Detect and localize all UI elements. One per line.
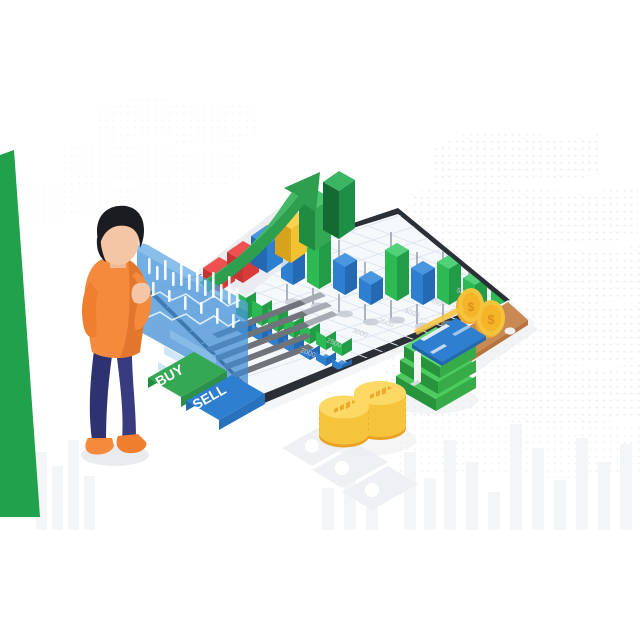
bar-6: [323, 171, 355, 239]
illustration-canvas: 2000 2500 3000 3500 4000 4500 5000: [0, 0, 640, 640]
isometric-trading-illustration: 2000 2500 3000 3500 4000 4500 5000: [0, 0, 640, 640]
coin-stack-left: [319, 396, 369, 448]
svg-text:$: $: [468, 300, 475, 314]
svg-text:$: $: [487, 312, 495, 327]
